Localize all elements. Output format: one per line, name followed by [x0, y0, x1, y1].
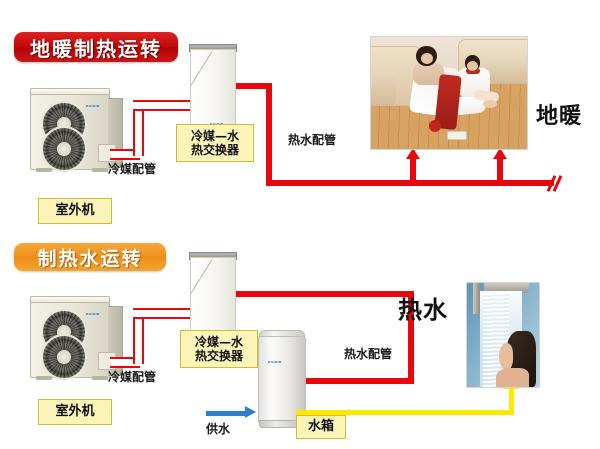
refrigerant-pipe-h-upper-2 [133, 308, 195, 319]
diagram-canvas: 地暖制热运转 DAIKIN 室外机 冷媒配管 DAIKIN 冷媒—水 热交换器 [0, 0, 600, 449]
indoor-unit-panel-seam-2 [191, 260, 233, 340]
outdoor-unit-foot-left-2 [36, 376, 52, 380]
water-supply-arrow-icon [245, 406, 256, 418]
label-refrigerant-piping-1: 冷媒配管 [108, 160, 156, 177]
section-banner-hot-water: 制热水运转 [14, 243, 166, 271]
label-destination-floor-heating: 地暖 [536, 98, 582, 130]
refrigerant-pipe-h-upper-1 [133, 100, 195, 111]
label-destination-hot-water: 热水 [398, 290, 448, 325]
outdoor-unit-logo-2: DAIKIN [86, 312, 100, 316]
tank-outlet-pipe-h [296, 410, 514, 415]
label-heat-exchanger-line2-2: 热交换器 [195, 349, 243, 363]
pipe-break-mark-1 [548, 175, 564, 193]
label-heat-exchanger-hot-water: 冷媒—水 热交换器 [180, 330, 258, 368]
hotwater-pipe-h-top-2 [236, 291, 414, 297]
fan-lower-icon [41, 126, 87, 172]
label-heat-exchanger-floor-heating: 冷媒—水 热交换器 [176, 124, 254, 162]
tank-outlet-pipe-v [509, 388, 514, 415]
label-heat-exchanger-line2: 热交换器 [191, 143, 239, 157]
hotwater-riser-left-1 [410, 158, 416, 182]
water-tank-logo: DAIKIN [268, 360, 282, 364]
label-outdoor-unit-text-2: 室外机 [55, 404, 94, 419]
outdoor-unit-foot-right [92, 168, 108, 172]
hotwater-riser-right-1 [497, 158, 503, 182]
label-heat-exchanger-line1-2: 冷媒—水 [195, 335, 243, 349]
label-outdoor-unit-floor-heating: 室外机 [38, 198, 112, 224]
water-supply-line [206, 411, 246, 416]
label-outdoor-unit-text: 室外机 [55, 203, 94, 218]
label-hotwater-piping-2: 热水配管 [344, 345, 392, 362]
indoor-unit-panel-seam [191, 52, 233, 132]
label-water-tank: 水箱 [296, 415, 346, 439]
label-water-supply: 供水 [206, 420, 230, 437]
label-hotwater-piping-1: 热水配管 [288, 131, 336, 148]
hotwater-pipe-return-to-tank [288, 378, 414, 384]
outdoor-unit-foot-left [36, 168, 52, 172]
label-heat-exchanger-line1: 冷媒—水 [191, 129, 239, 143]
section-banner-floor-heating: 地暖制热运转 [14, 32, 178, 62]
photo-hot-water-shower [466, 282, 540, 388]
photo-floor-heating-living-room [370, 36, 528, 150]
label-refrigerant-piping-2: 冷媒配管 [108, 368, 156, 385]
outdoor-unit-foot-right-2 [92, 376, 108, 380]
label-outdoor-unit-hot-water: 室外机 [38, 399, 112, 425]
hotwater-pipe-v-1 [266, 83, 272, 186]
label-water-tank-text: 水箱 [308, 419, 334, 434]
outdoor-unit-logo: DAIKIN [86, 104, 100, 108]
fan-lower-icon-2 [41, 334, 87, 380]
